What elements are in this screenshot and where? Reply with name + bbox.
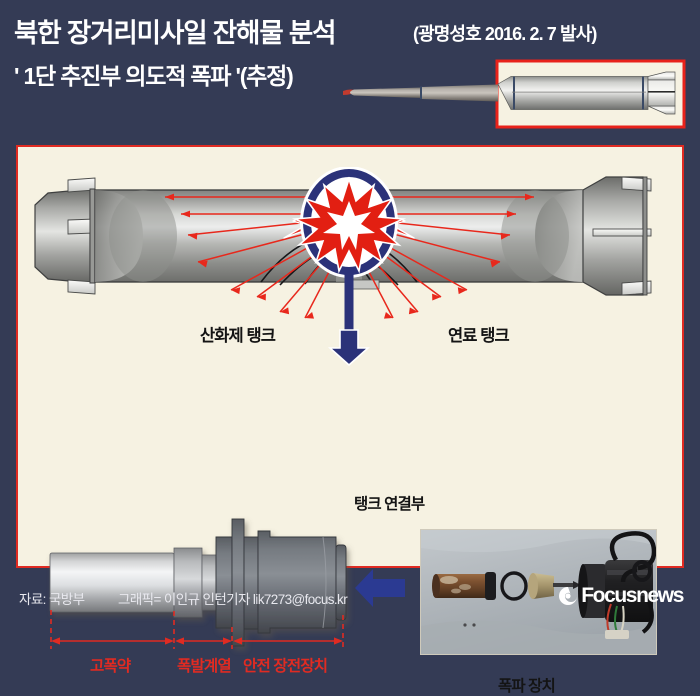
logo-text: Focusnews <box>581 584 683 608</box>
label-oxidizer-tank: 산화제 탱크 <box>200 322 275 346</box>
main-diagram-panel: 산화제 탱크 연료 탱크 탱크 연결부 <box>16 145 684 568</box>
header-missile-illustration <box>330 58 700 130</box>
page-title: 북한 장거리미사일 잔해물 분석 <box>14 11 335 50</box>
focus-swirl-icon <box>558 586 578 606</box>
page-subtitle: ' 1단 추진부 의도적 폭파 '(추정) <box>14 57 293 91</box>
header: 북한 장거리미사일 잔해물 분석 (광명성호 2016. 2. 7 발사) ' … <box>0 0 700 138</box>
focusnews-logo[interactable]: Focusnews <box>558 584 683 608</box>
infographic-root: 북한 장거리미사일 잔해물 분석 (광명성호 2016. 2. 7 발사) ' … <box>0 0 700 624</box>
dim-label-high-explosive: 고폭약 <box>90 654 130 676</box>
down-arrow-icon <box>330 330 368 365</box>
footer-source: 자료: 국방부 <box>19 588 84 608</box>
dim-label-explosive-train: 폭발계열 <box>177 654 231 676</box>
photo-caption: 폭파 장치 <box>498 674 555 696</box>
engine-nozzle-left <box>35 178 95 294</box>
label-tank-joint: 탱크 연결부 <box>354 492 424 514</box>
dim-label-safe-arm-device: 안전 장전장치 <box>243 654 327 676</box>
stage-cutaway-diagram <box>18 167 682 367</box>
interstage-right <box>583 177 651 295</box>
label-fuel-tank: 연료 탱크 <box>448 322 509 346</box>
title-date-note: (광명성호 2016. 2. 7 발사) <box>413 20 596 46</box>
footer-credit: 그래픽= 이인규 인턴기자 lik7273@focus.kr <box>118 588 347 608</box>
